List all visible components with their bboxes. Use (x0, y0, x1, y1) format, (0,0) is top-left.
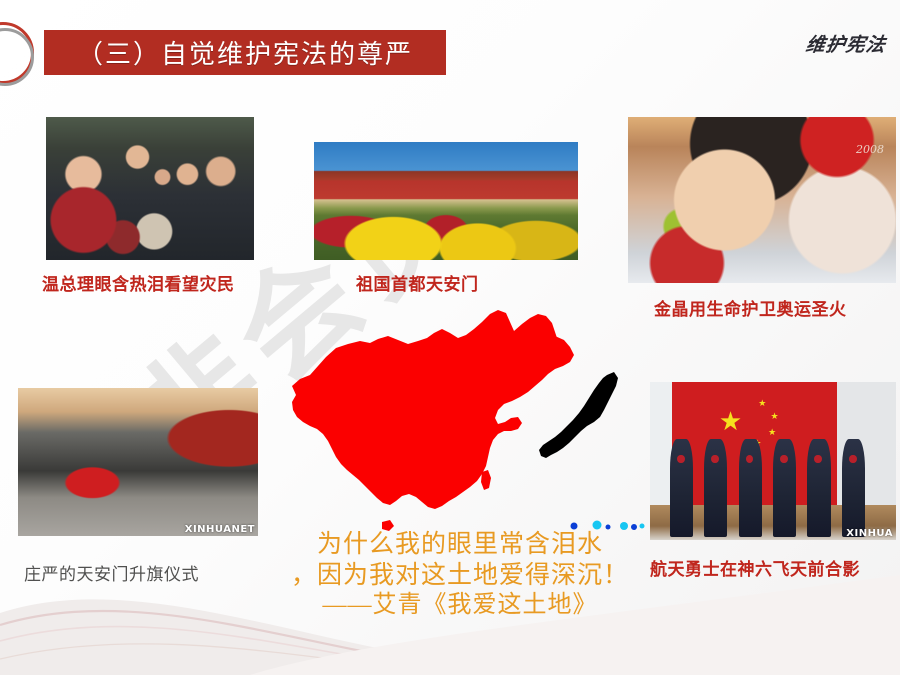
astronaut-figure (670, 439, 693, 537)
photo-flagraise-watermark: XINHUANET (185, 524, 255, 535)
caption-photo-jinjing: 金晶用生命护卫奥运圣火 (654, 295, 847, 320)
photo-jinjing: 2008 (628, 117, 896, 283)
photo-flagraise: XINHUANET (18, 388, 258, 536)
photo-tiananmen-image (314, 142, 578, 260)
decorative-ring-outer (0, 22, 34, 84)
flag-star-large-icon: ★ (719, 409, 742, 435)
flag-star-small-icon: ★ (758, 399, 766, 408)
astronaut-figure (739, 439, 762, 537)
page-title-band: （三）自觉维护宪法的尊严 (44, 30, 446, 75)
island-dot (640, 524, 645, 529)
photo-astronauts: ★ ★ ★ ★ ★ XINHUA (650, 382, 896, 540)
photo-flagraise-image (18, 388, 258, 536)
flag-star-small-icon: ★ (771, 412, 779, 421)
decorative-ring-inner (0, 28, 34, 86)
photo-astronauts-image: ★ ★ ★ ★ ★ (650, 382, 896, 540)
bottom-swoosh-decoration (0, 555, 900, 675)
photo-jinjing-image (628, 117, 896, 283)
slide-canvas: 非会员 （三）自觉维护宪法的尊严 维护宪法 温总理眼含热泪看望灾民 祖国首都天安… (0, 0, 900, 675)
photo-wen (46, 117, 254, 260)
caption-photo-tiananmen: 祖国首都天安门 (356, 270, 479, 295)
island-dot (593, 521, 602, 530)
astronaut-figure (704, 439, 727, 537)
photo-tiananmen (314, 142, 578, 260)
astronaut-figure (773, 439, 796, 537)
photo-jinjing-overlay-text: 2008 (856, 143, 884, 156)
brand-mark: 维护宪法 (804, 30, 888, 57)
photo-astronauts-watermark: XINHUA (846, 528, 893, 539)
swoosh-band-2 (250, 575, 900, 675)
astronaut-figure (807, 439, 830, 537)
flag-star-small-icon: ★ (768, 428, 776, 437)
island-dot (606, 525, 611, 530)
island-dot (571, 523, 578, 530)
photo-wen-image (46, 117, 254, 260)
astronaut-figure (842, 439, 865, 537)
page-title: （三）自觉维护宪法的尊严 (77, 34, 413, 71)
island-taiwan (481, 470, 491, 490)
caption-photo-wen: 温总理眼含热泪看望灾民 (42, 270, 235, 295)
neighbor-japan-shape (539, 372, 618, 458)
island-dot (620, 522, 628, 530)
china-map (252, 300, 652, 540)
